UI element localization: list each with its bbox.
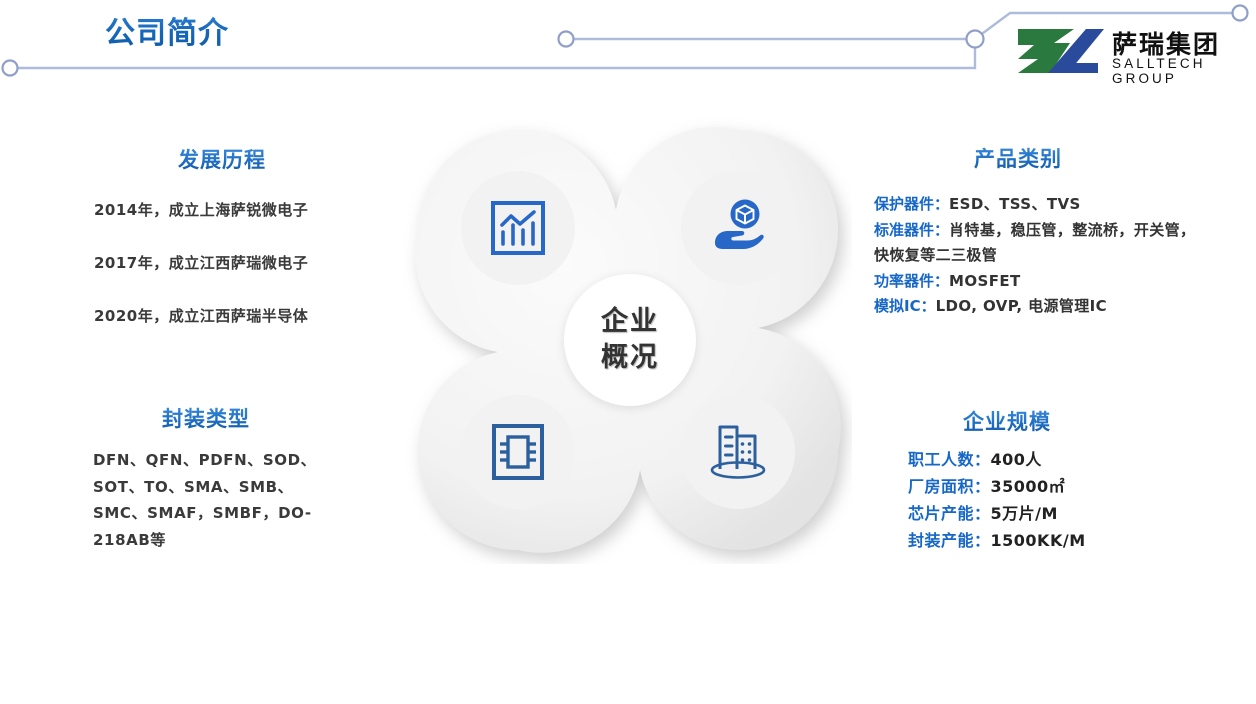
scale-row: 厂房面积：35000㎡ xyxy=(908,473,1086,500)
product-value: MOSFET xyxy=(949,272,1021,290)
deco-node-left xyxy=(559,32,574,47)
bar-chart-trend-icon xyxy=(489,199,547,257)
center-line-1: 企业 xyxy=(601,304,659,340)
section-heading-scale: 企业规模 xyxy=(963,406,1051,436)
scale-label: 厂房面积： xyxy=(908,477,991,496)
page-title: 公司简介 xyxy=(105,8,229,52)
slide-canvas: 公司简介 萨瑞集团 SALLTECH GROUP 发展历程 2014年，成立上海… xyxy=(0,0,1256,704)
product-row: 模拟IC：LDO, OVP, 电源管理IC xyxy=(874,294,1204,320)
product-category-list: 保护器件：ESD、TSS、TVS 标准器件：肖特基，稳压管，整流桥，开关管，快恢… xyxy=(874,192,1204,320)
section-heading-package: 封装类型 xyxy=(162,403,250,433)
scale-row: 芯片产能：5万片/M xyxy=(908,500,1086,527)
center-line-2: 概况 xyxy=(601,340,659,376)
salltech-logo-icon xyxy=(1012,27,1104,75)
deco-node-junction xyxy=(967,31,984,48)
chip-package-icon xyxy=(489,423,547,481)
product-label: 功率器件： xyxy=(874,272,949,290)
cluster-node-bottom-left[interactable] xyxy=(466,400,570,504)
scale-row: 职工人数：400人 xyxy=(908,446,1086,473)
product-row: 功率器件：MOSFET xyxy=(874,269,1204,295)
scale-value: 5万片/M xyxy=(991,504,1058,523)
company-logo: 萨瑞集团 SALLTECH GROUP xyxy=(1012,25,1242,77)
cluster-node-top-right[interactable] xyxy=(686,176,790,280)
history-item-1: 2014年，成立上海萨锐微电子 xyxy=(94,199,308,220)
scale-label: 芯片产能： xyxy=(908,504,991,523)
product-value: LDO, OVP, 电源管理IC xyxy=(936,297,1107,315)
company-overview-cluster: 企业 概况 xyxy=(404,116,852,564)
deco-node-right xyxy=(1233,6,1248,21)
product-value: ESD、TSS、TVS xyxy=(949,195,1081,213)
scale-value: 400人 xyxy=(991,450,1042,469)
product-label: 标准器件： xyxy=(874,221,949,239)
cluster-node-bottom-right[interactable] xyxy=(686,400,790,504)
logo-name-en: SALLTECH GROUP xyxy=(1112,56,1242,86)
company-scale-list: 职工人数：400人 厂房面积：35000㎡ 芯片产能：5万片/M 封装产能：15… xyxy=(908,446,1086,554)
office-buildings-icon xyxy=(707,422,769,482)
cluster-node-top-left[interactable] xyxy=(466,176,570,280)
scale-label: 职工人数： xyxy=(908,450,991,469)
deco-node-far-left xyxy=(3,61,18,76)
package-type-text: DFN、QFN、PDFN、SOD、SOT、TO、SMA、SMB、SMC、SMAF… xyxy=(93,447,343,553)
section-heading-history: 发展历程 xyxy=(178,144,266,174)
scale-row: 封装产能：1500KK/M xyxy=(908,527,1086,554)
scale-value: 35000㎡ xyxy=(991,477,1066,496)
product-row: 标准器件：肖特基，稳压管，整流桥，开关管，快恢复等二三极管 xyxy=(874,218,1204,269)
hand-holding-box-icon xyxy=(707,197,769,259)
product-label: 模拟IC： xyxy=(874,297,936,315)
product-row: 保护器件：ESD、TSS、TVS xyxy=(874,192,1204,218)
scale-label: 封装产能： xyxy=(908,531,991,550)
history-item-3: 2020年，成立江西萨瑞半导体 xyxy=(94,305,308,326)
section-heading-products: 产品类别 xyxy=(974,143,1062,173)
product-label: 保护器件： xyxy=(874,195,949,213)
history-item-2: 2017年，成立江西萨瑞微电子 xyxy=(94,252,308,273)
cluster-center-label: 企业 概况 xyxy=(564,274,696,406)
scale-value: 1500KK/M xyxy=(991,531,1086,550)
